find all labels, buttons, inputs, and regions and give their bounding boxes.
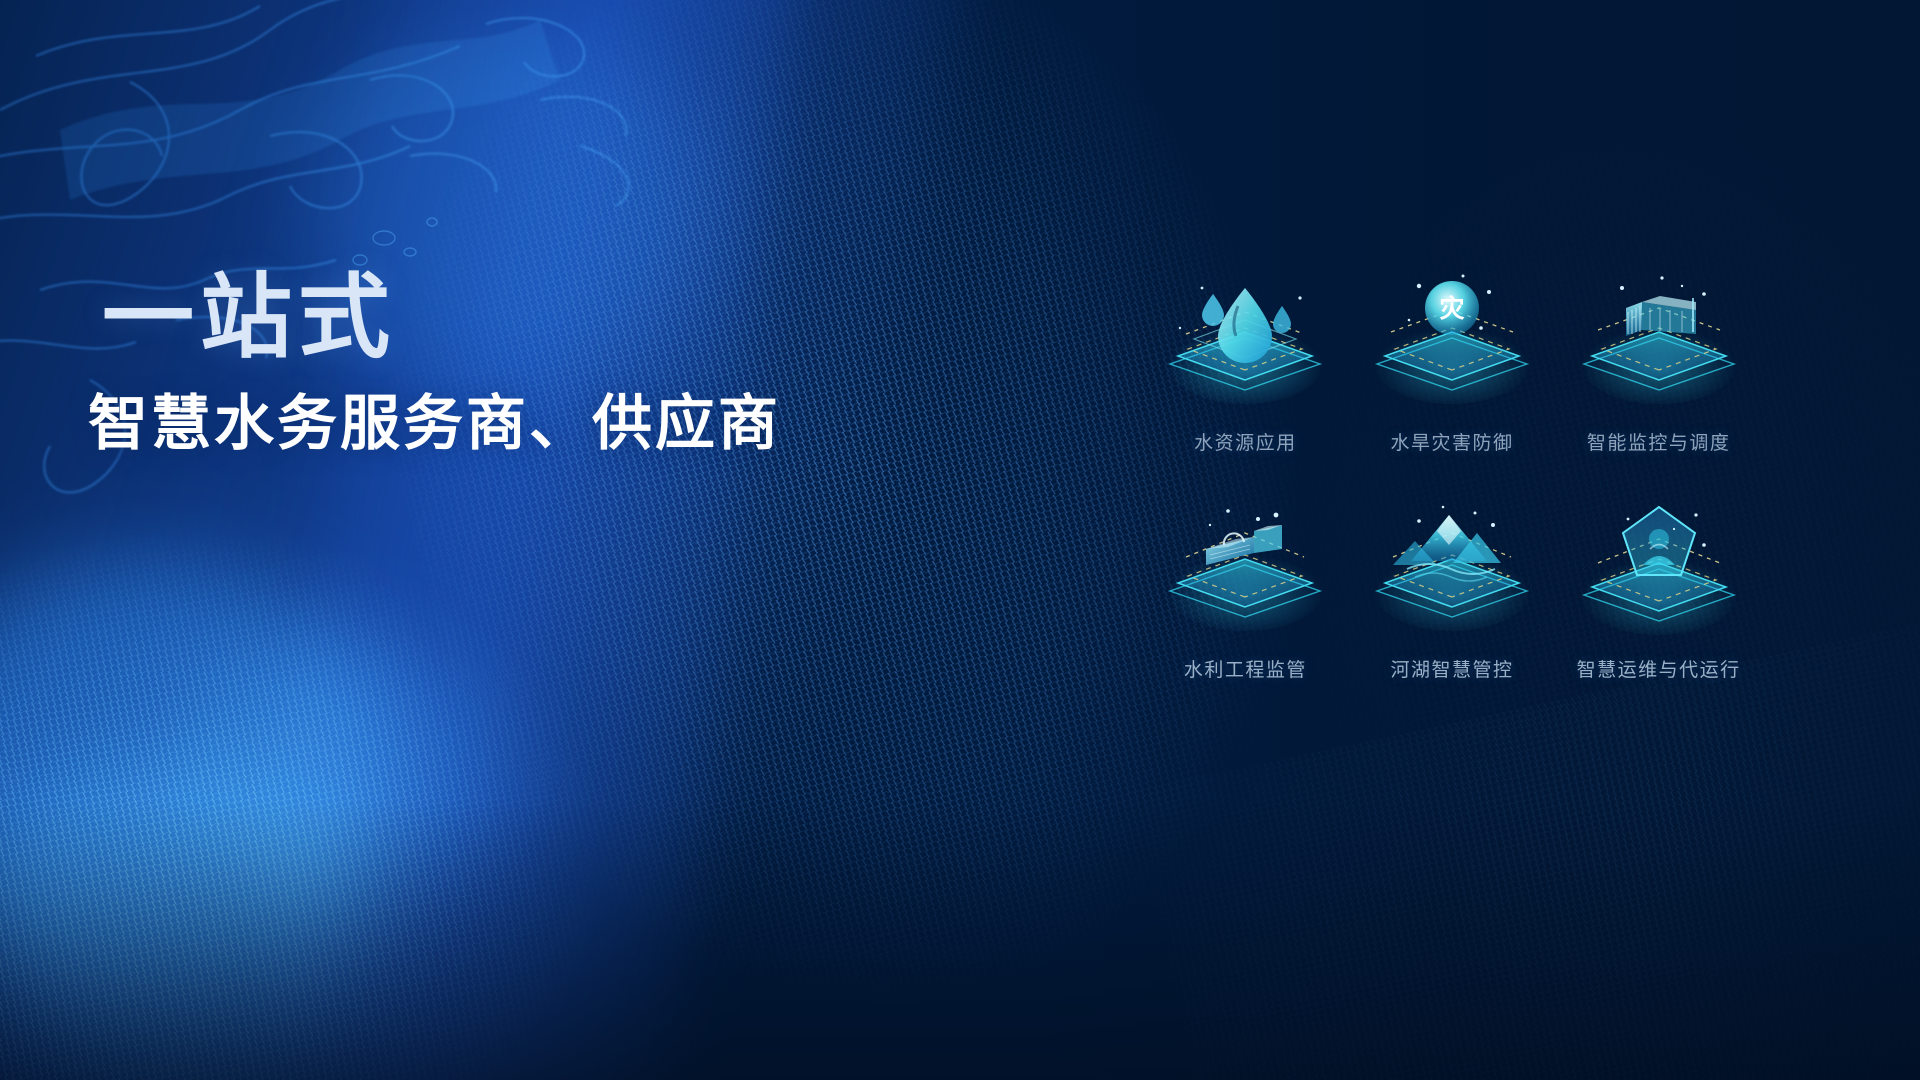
service-label: 水资源应用 [1194, 428, 1297, 455]
water-drop-platform-icon [1150, 272, 1340, 422]
service-card-monitor-dispatch[interactable]: 智能监控与调度 [1555, 272, 1762, 455]
background-bottom-vignette [0, 799, 1920, 1080]
dam-monitoring-icon [1564, 272, 1754, 422]
service-label: 智能监控与调度 [1587, 428, 1731, 455]
service-card-water-resource[interactable]: 水资源应用 [1142, 272, 1349, 455]
page-subheadline: 智慧水务服务商、供应商 [88, 394, 781, 454]
service-card-smart-ops[interactable]: 智慧运维与代运行 [1555, 499, 1762, 682]
service-card-project-supervise[interactable]: 水利工程监管 [1142, 499, 1349, 682]
disaster-badge-character: 灾 [1439, 294, 1464, 323]
service-grid: 水资源应用 [1142, 272, 1762, 682]
service-label: 河湖智慧管控 [1390, 655, 1513, 682]
shield-operations-icon [1564, 499, 1754, 649]
disaster-sphere-icon: 灾 [1357, 272, 1547, 422]
page-headline: 一站式 [102, 272, 396, 364]
banner-stage: 一站式 智慧水务服务商、供应商 [0, 0, 1920, 1080]
service-card-flood-drought[interactable]: 灾 水旱灾害防御 [1349, 272, 1556, 455]
service-label: 智慧运维与代运行 [1577, 655, 1741, 682]
hydro-project-icon [1150, 499, 1340, 649]
river-mountain-icon [1357, 499, 1547, 649]
service-card-river-lake[interactable]: 河湖智慧管控 [1349, 499, 1556, 682]
service-label: 水利工程监管 [1184, 655, 1307, 682]
service-label: 水旱灾害防御 [1390, 428, 1513, 455]
